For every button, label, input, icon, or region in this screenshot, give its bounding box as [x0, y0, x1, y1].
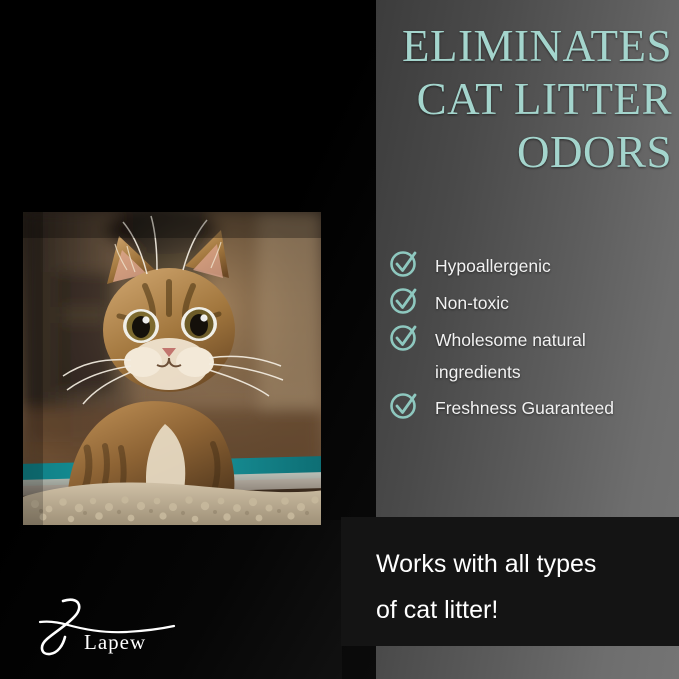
brand-name: Lapew	[84, 630, 146, 655]
feature-label: Wholesome natural ingredients	[435, 324, 674, 388]
feature-item: Non-toxic	[389, 287, 674, 320]
check-circle-icon	[389, 248, 419, 278]
feature-item: Hypoallergenic	[389, 250, 674, 283]
brand-logo: Lapew	[22, 592, 202, 664]
feature-item: Freshness Guaranteed	[389, 392, 674, 425]
cat-photo	[23, 212, 321, 525]
headline: ELIMINATES CAT LITTER ODORS	[300, 20, 672, 179]
check-circle-icon	[389, 390, 419, 420]
headline-line-3: ODORS	[300, 126, 672, 179]
callout-line-1: Works with all types	[376, 541, 666, 587]
feature-item: Wholesome natural ingredients	[389, 324, 674, 388]
feature-label: Non-toxic	[435, 287, 509, 320]
feature-list: Hypoallergenic Non-toxic Wholesome natur…	[389, 250, 674, 429]
callout-text: Works with all types of cat litter!	[376, 541, 666, 633]
callout-line-2: of cat litter!	[376, 587, 666, 633]
headline-line-2: CAT LITTER	[300, 73, 672, 126]
callout-box: Works with all types of cat litter!	[341, 517, 679, 646]
headline-line-1: ELIMINATES	[300, 20, 672, 73]
feature-label: Hypoallergenic	[435, 250, 551, 283]
check-circle-icon	[389, 322, 419, 352]
product-ad-banner: ELIMINATES CAT LITTER ODORS	[0, 0, 679, 679]
check-circle-icon	[389, 285, 419, 315]
feature-label: Freshness Guaranteed	[435, 392, 614, 425]
